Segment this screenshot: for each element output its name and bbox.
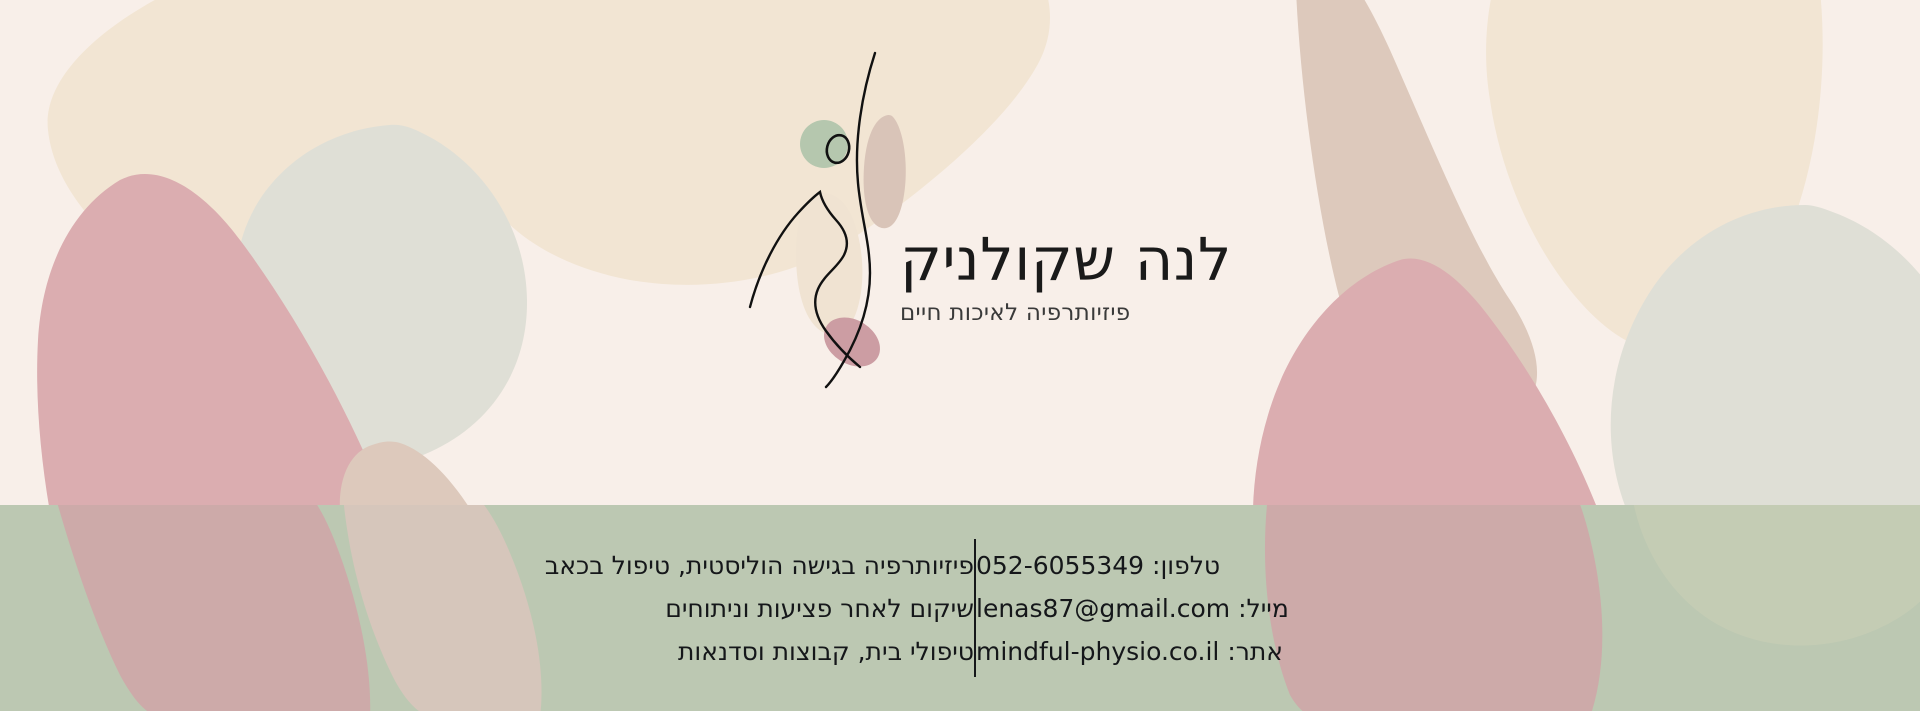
contact-email-value[interactable]: lenas87@gmail.com xyxy=(976,594,1230,623)
logo-wordmark: לנה שקולניק פיזיותרפיה לאיכות חיים xyxy=(900,230,1260,326)
contact-phone: טלפון: 052-6055349 xyxy=(976,544,1376,587)
brand-tagline: פיזיותרפיה לאיכות חיים xyxy=(900,300,1260,326)
blob-taupe-right xyxy=(1296,0,1537,431)
contact-website-label: אתר: xyxy=(1227,637,1283,666)
logo-blob-cream xyxy=(796,193,862,334)
contact-website-value[interactable]: mindful-physio.co.il xyxy=(976,637,1219,666)
service-line: שיקום לאחר פציעות וניתוחים xyxy=(544,587,974,630)
brand-banner: לנה שקולניק פיזיותרפיה לאיכות חיים פיזיו… xyxy=(0,0,1920,711)
services-column: פיזיותרפיה בגישה הוליסטית, טיפול בכאב שי… xyxy=(514,544,974,673)
logo-blob-taupe xyxy=(864,115,906,228)
blob-sage-left xyxy=(235,125,527,466)
footer-content: פיזיותרפיה בגישה הוליסטית, טיפול בכאב שי… xyxy=(0,505,1920,711)
service-line: פיזיותרפיה בגישה הוליסטית, טיפול בכאב xyxy=(544,544,974,587)
footer-divider xyxy=(974,539,976,677)
brand-name: לנה שקולניק xyxy=(900,230,1260,290)
logo-figure-icon xyxy=(740,45,930,390)
contact-phone-label: טלפון: xyxy=(1152,551,1220,580)
service-line: טיפולי בית, קבוצות וסדנאות xyxy=(544,630,974,673)
logo-block: לנה שקולניק פיזיותרפיה לאיכות חיים xyxy=(740,45,1260,390)
contact-email: מייל: lenas87@gmail.com xyxy=(976,587,1376,630)
contact-phone-value[interactable]: 052-6055349 xyxy=(976,551,1144,580)
contact-website: אתר: mindful-physio.co.il xyxy=(976,630,1376,673)
blob-cream-right xyxy=(1486,0,1823,353)
contact-column: טלפון: 052-6055349 מייל: lenas87@gmail.c… xyxy=(976,544,1406,673)
contact-email-label: מייל: xyxy=(1238,594,1289,623)
